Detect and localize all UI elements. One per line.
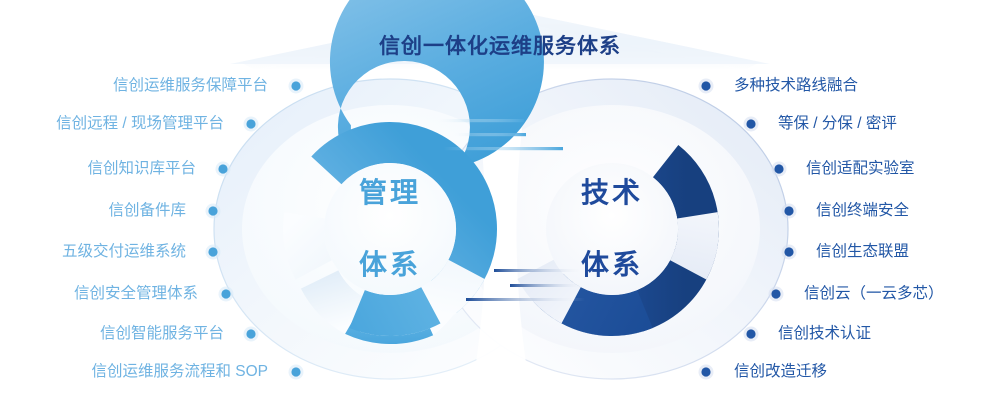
left-center-line-1: 管理	[359, 175, 421, 211]
right-item-label-5[interactable]: 信创生态联盟	[816, 243, 909, 261]
left-item-label-1[interactable]: 信创运维服务保障平台	[113, 77, 268, 95]
page-title: 信创一体化运维服务体系	[0, 30, 1000, 60]
left-center-line-2: 体系	[359, 247, 421, 283]
right-item-label-4[interactable]: 信创终端安全	[816, 202, 909, 220]
node-dot[interactable]	[246, 119, 255, 128]
right-center-line-2: 体系	[581, 247, 643, 283]
node-dot[interactable]	[784, 206, 793, 215]
right-center-line-1: 技术	[581, 175, 643, 211]
left-item-label-7[interactable]: 信创智能服务平台	[100, 325, 224, 343]
right-item-label-3[interactable]: 信创适配实验室	[806, 160, 915, 178]
left-item-label-3[interactable]: 信创知识库平台	[87, 160, 196, 178]
node-dot[interactable]	[746, 119, 755, 128]
node-dot[interactable]	[771, 289, 780, 298]
right-item-label-8[interactable]: 信创改造迁移	[734, 363, 827, 381]
node-dot[interactable]	[701, 367, 710, 376]
node-dot[interactable]	[291, 81, 300, 90]
left-circle-center-label: 管理 体系	[359, 139, 421, 319]
node-dot[interactable]	[291, 367, 300, 376]
node-dot[interactable]	[221, 289, 230, 298]
node-dot[interactable]	[774, 164, 783, 173]
right-item-label-1[interactable]: 多种技术路线融合	[734, 77, 858, 95]
node-dot[interactable]	[784, 247, 793, 256]
left-item-label-6[interactable]: 信创安全管理体系	[74, 285, 198, 303]
node-dot[interactable]	[701, 81, 710, 90]
node-dot[interactable]	[746, 329, 755, 338]
left-item-label-8[interactable]: 信创运维服务流程和 SOP	[91, 363, 268, 381]
node-dot[interactable]	[218, 164, 227, 173]
left-item-label-5[interactable]: 五级交付运维系统	[62, 243, 186, 261]
infographic-canvas: 信创一体化运维服务体系 管理 体系 技术 体系 信创运维服务保障平台信创远程 /…	[0, 0, 1000, 408]
right-item-label-7[interactable]: 信创技术认证	[778, 325, 871, 343]
right-circle-center-label: 技术 体系	[581, 139, 643, 319]
left-item-label-2[interactable]: 信创远程 / 现场管理平台	[56, 115, 224, 133]
right-item-label-6[interactable]: 信创云（一云多芯）	[804, 285, 944, 303]
node-dot[interactable]	[246, 329, 255, 338]
left-item-label-4[interactable]: 信创备件库	[108, 202, 186, 220]
node-dot[interactable]	[208, 247, 217, 256]
node-dot[interactable]	[208, 206, 217, 215]
right-item-label-2[interactable]: 等保 / 分保 / 密评	[778, 115, 897, 133]
